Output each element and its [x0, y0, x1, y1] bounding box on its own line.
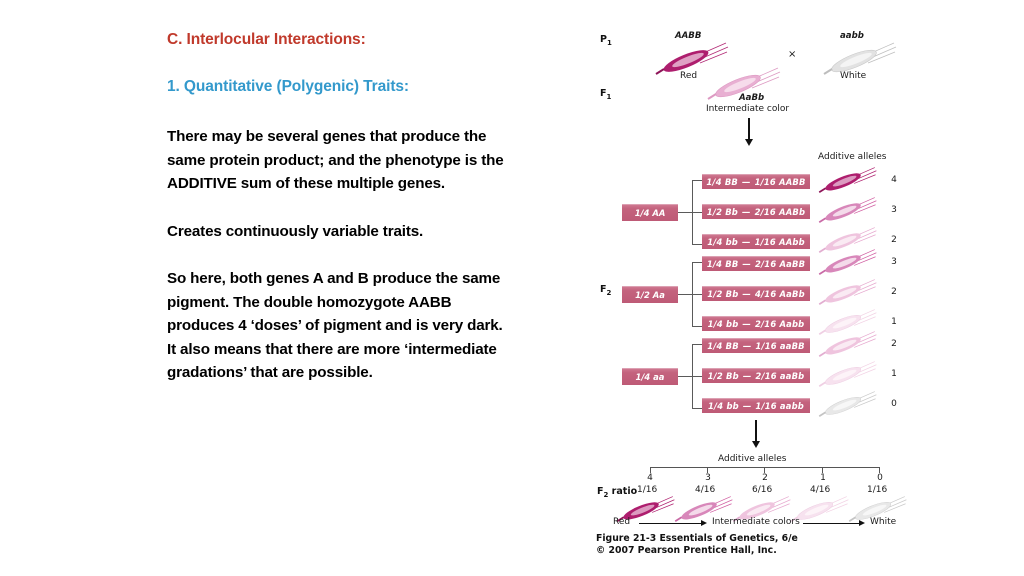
- gradient-arrow-right: [859, 520, 865, 526]
- parent-box-aa-recessive: 1/4 aa: [622, 368, 678, 385]
- slide-text-column: C. Interlocular Interactions: 1. Quantit…: [167, 30, 512, 385]
- heading-quantitative-traits: 1. Quantitative (Polygenic) Traits:: [167, 77, 512, 97]
- genotype-text: 1/4 bb: [708, 319, 739, 329]
- label-f1-phenotype: Intermediate color: [706, 104, 789, 114]
- combined-text: 2/16 aaBb: [755, 371, 804, 381]
- allele-count: 4: [888, 175, 900, 185]
- bracket-stem: [678, 376, 692, 377]
- genotype-text: 1/2 Bb: [707, 289, 738, 299]
- allele-count: 2: [888, 287, 900, 297]
- combined-text: 2/16 AaBB: [755, 259, 805, 269]
- summary-allele-count: 0: [874, 473, 886, 483]
- bracket-stem: [678, 294, 692, 295]
- genotype-text: 1/4 bb: [708, 401, 739, 411]
- summary-allele-count: 4: [644, 473, 656, 483]
- combined-text: 1/16 AABB: [755, 177, 806, 187]
- label-phenotype-white: White: [870, 517, 896, 527]
- heading-interlocular-interactions: C. Interlocular Interactions:: [167, 30, 512, 50]
- allele-count: 0: [888, 399, 900, 409]
- dash: —: [738, 237, 755, 247]
- label-f2: F2: [600, 284, 611, 297]
- dash: —: [738, 259, 755, 269]
- wheat-stalk-icon: [816, 248, 878, 275]
- label-parent-left-phenotype: Red: [680, 71, 697, 81]
- wheat-stalk-icon: [816, 166, 878, 193]
- dash: —: [738, 177, 755, 187]
- allele-count: 2: [888, 339, 900, 349]
- wheat-stalk-icon: [816, 196, 878, 223]
- combined-text: 2/16 Aabb: [755, 319, 804, 329]
- cross-symbol: ×: [788, 49, 796, 60]
- dash: —: [739, 341, 756, 351]
- genotype-box: 1/4 BB — 1/16 aaBB: [702, 338, 810, 353]
- wheat-stalk-icon: [820, 41, 898, 75]
- figure-caption-line2: © 2007 Pearson Prentice Hall, Inc.: [596, 545, 777, 556]
- paragraph-continuous-traits: Creates continuously variable traits.: [167, 220, 512, 244]
- summary-ratio: 1/16: [867, 485, 887, 495]
- genotype-text: 1/4 BB: [707, 341, 739, 351]
- parent-box-aa-heterozygous: 1/2 Aa: [622, 286, 678, 303]
- bracket-arm-mid: [692, 212, 702, 213]
- arrow-to-summary-head: [752, 441, 760, 448]
- combined-text: 1/16 aaBB: [755, 341, 804, 351]
- parent-box-aa-homozygous: 1/4 AA: [622, 204, 678, 221]
- paragraph-additive-genes: There may be several genes that produce …: [167, 125, 512, 196]
- dash: —: [739, 371, 756, 381]
- gradient-line-right: [803, 523, 859, 524]
- genotype-box: 1/2 Bb — 2/16 AABb: [702, 204, 810, 219]
- label-phenotype-red: Red: [613, 517, 630, 527]
- label-additive-alleles-top: Additive alleles: [818, 152, 886, 162]
- genotype-text: 1/4 BB: [707, 259, 739, 269]
- dash: —: [738, 319, 755, 329]
- genotype-text: 1/4 BB: [706, 177, 738, 187]
- label-f1-genotype: AaBb: [739, 93, 764, 103]
- bracket-stem: [678, 212, 692, 213]
- allele-count: 3: [888, 257, 900, 267]
- summary-ratio: 4/16: [695, 485, 715, 495]
- arrow-f1-to-f2-head: [745, 139, 753, 146]
- genotype-text: 1/2 Bb: [708, 371, 739, 381]
- polygenic-inheritance-figure: P1 AABB Red × aabb White F1 AaBb Interme…: [592, 14, 1012, 559]
- arrow-f1-to-f2-shaft: [748, 118, 750, 140]
- genotype-text: 1/4 bb: [707, 237, 738, 247]
- figure-caption-line1: Figure 21-3 Essentials of Genetics, 6/e: [596, 533, 798, 544]
- allele-count: 1: [888, 369, 900, 379]
- label-phenotype-intermediate: Intermediate colors: [712, 517, 800, 527]
- genotype-box: 1/4 BB — 2/16 AaBB: [702, 256, 810, 271]
- summary-allele-count: 3: [702, 473, 714, 483]
- genotype-box: 1/4 bb — 1/16 aabb: [702, 398, 810, 413]
- summary-ratio: 4/16: [810, 485, 830, 495]
- genotype-box: 1/4 bb — 2/16 Aabb: [702, 316, 810, 331]
- combined-text: 1/16 AAbb: [755, 237, 805, 247]
- paragraph-aabb-example: So here, both genes A and B produce the …: [167, 267, 512, 385]
- gradient-line-left: [639, 523, 701, 524]
- summary-allele-count: 2: [759, 473, 771, 483]
- genotype-box: 1/4 BB — 1/16 AABB: [702, 174, 810, 189]
- label-parent-right-phenotype: White: [840, 71, 866, 81]
- summary-allele-count: 1: [817, 473, 829, 483]
- gradient-arrow-left: [701, 520, 707, 526]
- label-additive-alleles-summary: Additive alleles: [718, 454, 786, 464]
- genotype-box: 1/2 Bb — 2/16 aaBb: [702, 368, 810, 383]
- dash: —: [738, 207, 755, 217]
- allele-count: 2: [888, 235, 900, 245]
- wheat-stalk-icon: [816, 278, 878, 305]
- dash: —: [738, 289, 755, 299]
- genotype-box: 1/2 Bb — 4/16 AaBb: [702, 286, 810, 301]
- bracket-arm-mid: [692, 294, 702, 295]
- genotype-box: 1/4 bb — 1/16 AAbb: [702, 234, 810, 249]
- label-f1: F1: [600, 88, 611, 101]
- combined-text: 2/16 AABb: [755, 207, 806, 217]
- allele-count: 3: [888, 205, 900, 215]
- bracket-arm-mid: [692, 376, 702, 377]
- summary-ratio: 6/16: [752, 485, 772, 495]
- wheat-stalk-icon: [816, 330, 878, 357]
- genotype-text: 1/2 Bb: [707, 207, 738, 217]
- arrow-to-summary-shaft: [755, 420, 757, 442]
- label-parent-right-genotype: aabb: [840, 31, 864, 41]
- label-p1: P1: [600, 34, 612, 47]
- dash: —: [739, 401, 756, 411]
- wheat-stalk-icon: [816, 390, 878, 417]
- label-parent-left-genotype: AABB: [675, 31, 701, 41]
- allele-count: 1: [888, 317, 900, 327]
- summary-ratio: 1/16: [637, 485, 657, 495]
- combined-text: 1/16 aabb: [755, 401, 804, 411]
- combined-text: 4/16 AaBb: [755, 289, 805, 299]
- wheat-stalk-icon: [816, 360, 878, 387]
